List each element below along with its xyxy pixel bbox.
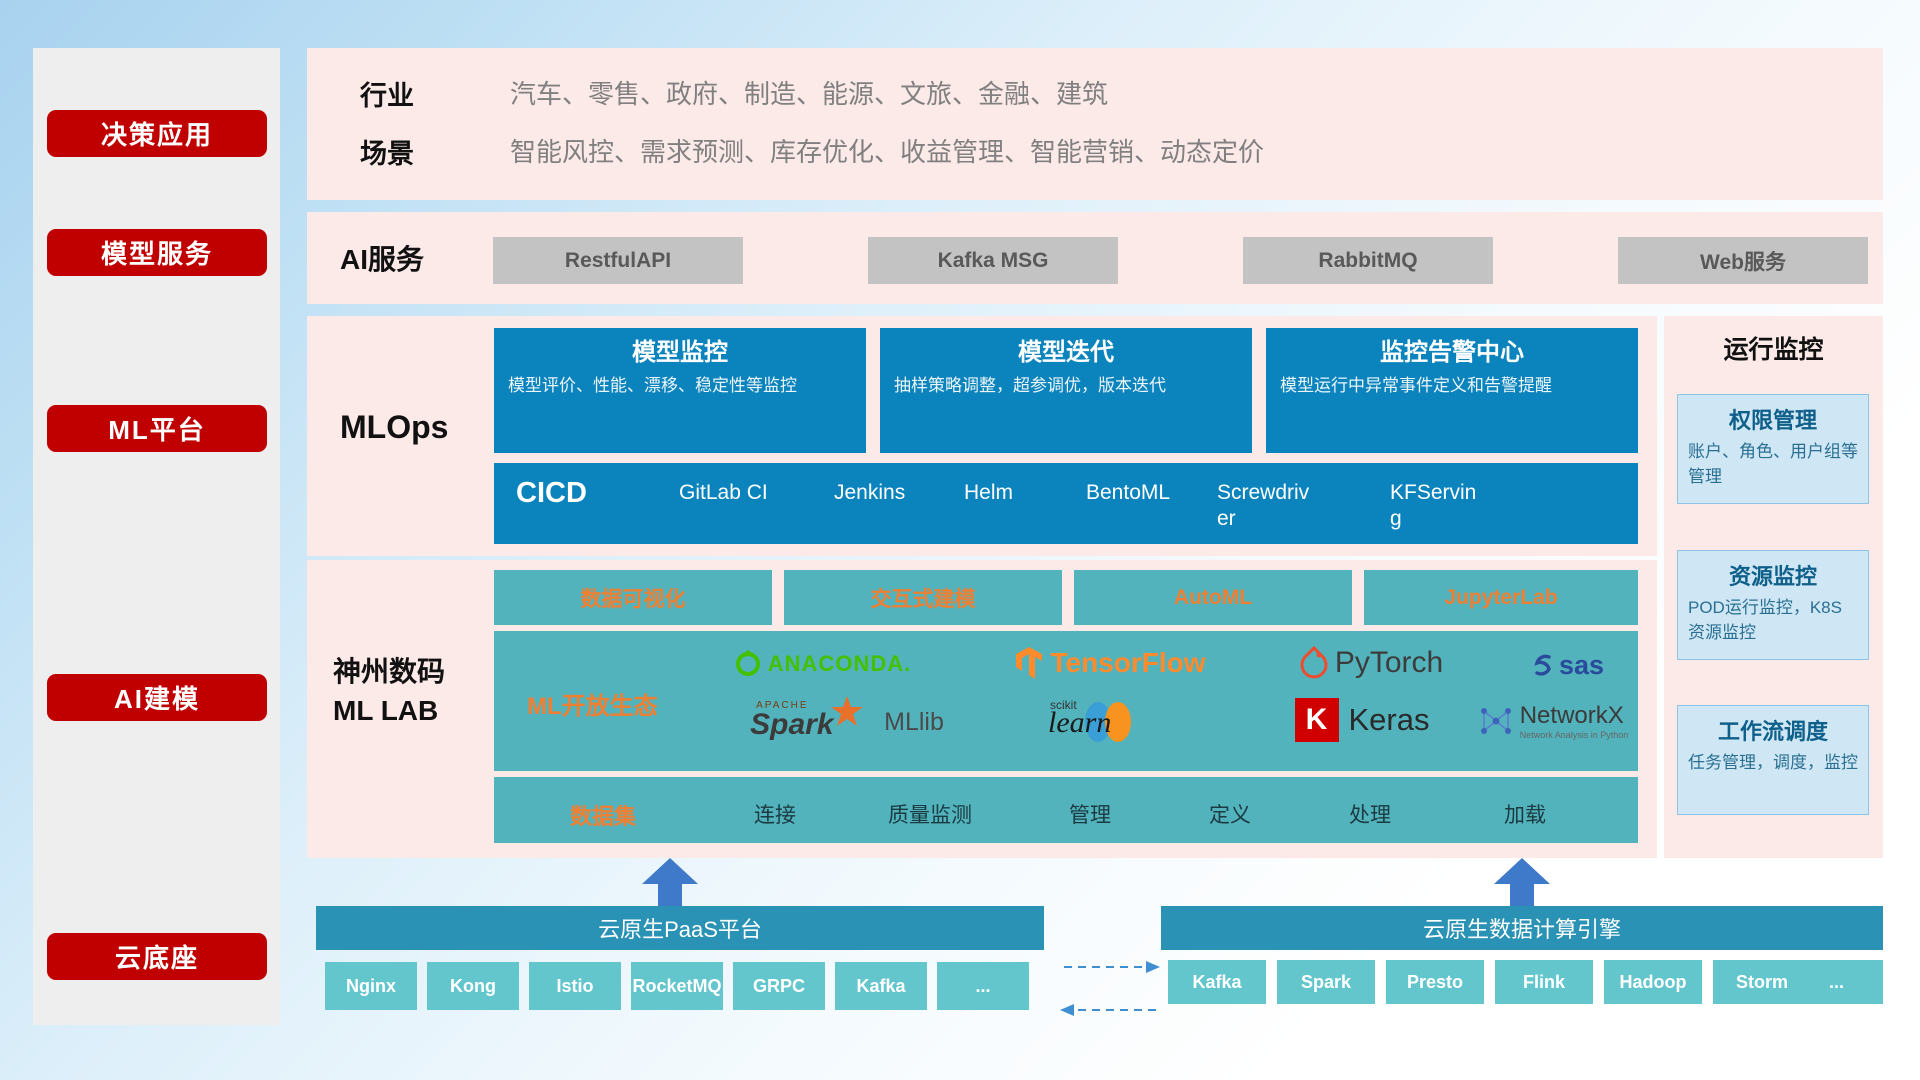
dataset-item-process[interactable]: 处理 [1315,799,1425,829]
mllab-label-line1: 神州数码 [333,652,445,691]
dataset-item-connect[interactable]: 连接 [720,799,830,829]
pytorch-logo: PyTorch [1256,640,1486,686]
ai-service-rabbitmq[interactable]: RabbitMQ [1243,237,1493,284]
paas-chip-rocketmq[interactable]: RocketMQ [631,962,723,1010]
rail-item-decision-app[interactable]: 决策应用 [47,110,267,157]
mllab-tab-jupyterlab[interactable]: JupyterLab [1364,570,1638,625]
scikit-learn-logo-text: learn [1048,706,1111,740]
cicd-item-screwdriver[interactable]: Screwdriver [1217,480,1313,533]
mlops-card-desc: 模型评价、性能、漂移、稳定性等监控 [508,374,852,399]
mlops-card-desc: 抽样策略调整，超参调优，版本迭代 [894,374,1238,399]
scenario-key: 场景 [360,132,414,171]
engine-chip-more[interactable]: ... [1790,960,1883,1004]
paas-chip-kafka[interactable]: Kafka [835,962,927,1010]
monitor-card-desc: 任务管理，调度，监控 [1688,751,1858,776]
ml-ecosystem-label: ML开放生态 [527,686,658,721]
ai-service-restfulapi[interactable]: RestfulAPI [493,237,743,284]
mlops-card-alert-center[interactable]: 监控告警中心 模型运行中异常事件定义和告警提醒 [1266,328,1638,453]
diagram-canvas: 决策应用 模型服务 ML平台 AI建模 云底座 行业 汽车、零售、政府、制造、能… [0,0,1920,1080]
industry-value: 汽车、零售、政府、制造、能源、文旅、金融、建筑 [510,74,1108,111]
industry-key: 行业 [360,74,414,113]
paas-bar[interactable]: 云原生PaaS平台 [316,906,1044,950]
mlops-label: MLOps [340,405,520,449]
mlops-card-title: 模型迭代 [894,338,1238,368]
engine-chip-presto[interactable]: Presto [1386,960,1484,1004]
paas-chip-kong[interactable]: Kong [427,962,519,1010]
arrow-bidirectional-dashed-icon [1060,955,1160,1025]
arrow-up-paas-icon [640,858,700,906]
mllab-label: 神州数码 ML LAB [333,652,445,730]
networkx-logo-text: NetworkX [1520,702,1629,730]
sas-logo-text: sas [1559,650,1604,681]
mlops-card-title: 模型监控 [508,338,852,368]
monitor-column-title: 运行监控 [1664,330,1883,366]
rail-item-cloud-base[interactable]: 云底座 [47,933,267,980]
spark-logo-text: Spark [750,708,833,742]
monitor-card-desc: 账户、角色、用户组等管理 [1688,440,1858,489]
networkx-logo-sub: Network Analysis in Python [1520,730,1629,740]
engine-chip-kafka[interactable]: Kafka [1168,960,1266,1004]
monitor-card-title: 资源监控 [1688,559,1858,591]
paas-chip-more[interactable]: ... [937,962,1029,1010]
left-rail [33,48,280,1025]
ai-service-web[interactable]: Web服务 [1618,237,1868,284]
engine-chip-flink[interactable]: Flink [1495,960,1593,1004]
cicd-item-jenkins[interactable]: Jenkins [834,480,930,506]
rail-item-ai-modeling[interactable]: AI建模 [47,674,267,721]
rail-item-model-service[interactable]: 模型服务 [47,229,267,276]
cicd-item-bentoml[interactable]: BentoML [1086,480,1182,506]
keras-logo-text: Keras [1349,702,1430,738]
cicd-heading: CICD [516,477,587,510]
arrow-up-data-engine-icon [1492,858,1552,906]
monitor-card-title: 权限管理 [1688,403,1858,435]
cicd-item-gitlab-ci[interactable]: GitLab CI [679,480,775,506]
ai-service-kafka-msg[interactable]: Kafka MSG [868,237,1118,284]
mlops-card-title: 监控告警中心 [1280,338,1624,368]
tensorflow-logo-text: TensorFlow [1050,647,1205,679]
spark-mllib-logo: APACHE Spark MLlib [712,696,982,748]
anaconda-logo-text: ANACONDA. [768,651,911,677]
mlops-card-model-monitoring[interactable]: 模型监控 模型评价、性能、漂移、稳定性等监控 [494,328,866,453]
cicd-bar: CICD GitLab CI Jenkins Helm BentoML Scre… [494,463,1638,544]
monitor-card-permission[interactable]: 权限管理 账户、角色、用户组等管理 [1677,394,1869,504]
paas-chip-nginx[interactable]: Nginx [325,962,417,1010]
rail-item-ml-platform[interactable]: ML平台 [47,405,267,452]
application-band [307,48,1883,200]
mllib-logo-text: MLlib [884,708,944,737]
dataset-item-manage[interactable]: 管理 [1035,799,1145,829]
mlops-card-desc: 模型运行中异常事件定义和告警提醒 [1280,374,1624,399]
paas-chip-istio[interactable]: Istio [529,962,621,1010]
dataset-label: 数据集 [570,799,636,831]
engine-chip-spark[interactable]: Spark [1277,960,1375,1004]
dataset-item-load[interactable]: 加载 [1470,799,1580,829]
monitor-card-resource[interactable]: 资源监控 POD运行监控，K8S资源监控 [1677,550,1869,660]
sas-logo: sas [1494,644,1639,686]
anaconda-logo: ANACONDA. [712,643,932,685]
dataset-item-quality[interactable]: 质量监测 [855,799,1005,829]
monitor-card-workflow[interactable]: 工作流调度 任务管理，调度，监控 [1677,705,1869,815]
data-engine-bar[interactable]: 云原生数据计算引擎 [1161,906,1883,950]
monitor-card-desc: POD运行监控，K8S资源监控 [1688,596,1858,645]
networkx-logo: NetworkX Network Analysis in Python [1462,694,1642,748]
scikit-learn-logo: scikit learn [1008,694,1208,748]
mllab-tab-interactive-modeling[interactable]: 交互式建模 [784,570,1062,625]
dataset-item-define[interactable]: 定义 [1175,799,1285,829]
cicd-item-helm[interactable]: Helm [964,480,1060,506]
scenario-value: 智能风控、需求预测、库存优化、收益管理、智能营销、动态定价 [510,132,1264,169]
pytorch-logo-text: PyTorch [1335,646,1443,680]
mllab-tab-data-visualization[interactable]: 数据可视化 [494,570,772,625]
cicd-item-kfserving[interactable]: KFServing [1390,480,1486,533]
engine-chip-hadoop[interactable]: Hadoop [1604,960,1702,1004]
keras-logo: K Keras [1262,694,1462,746]
mlops-card-model-iteration[interactable]: 模型迭代 抽样策略调整，超参调优，版本迭代 [880,328,1252,453]
ai-service-label: AI服务 [340,240,490,276]
mllab-tab-automl[interactable]: AutoML [1074,570,1352,625]
paas-chip-grpc[interactable]: GRPC [733,962,825,1010]
keras-logo-mark: K [1295,698,1339,742]
mllab-label-line2: ML LAB [333,691,445,730]
monitor-card-title: 工作流调度 [1688,714,1858,746]
tensorflow-logo: TensorFlow [975,640,1245,686]
